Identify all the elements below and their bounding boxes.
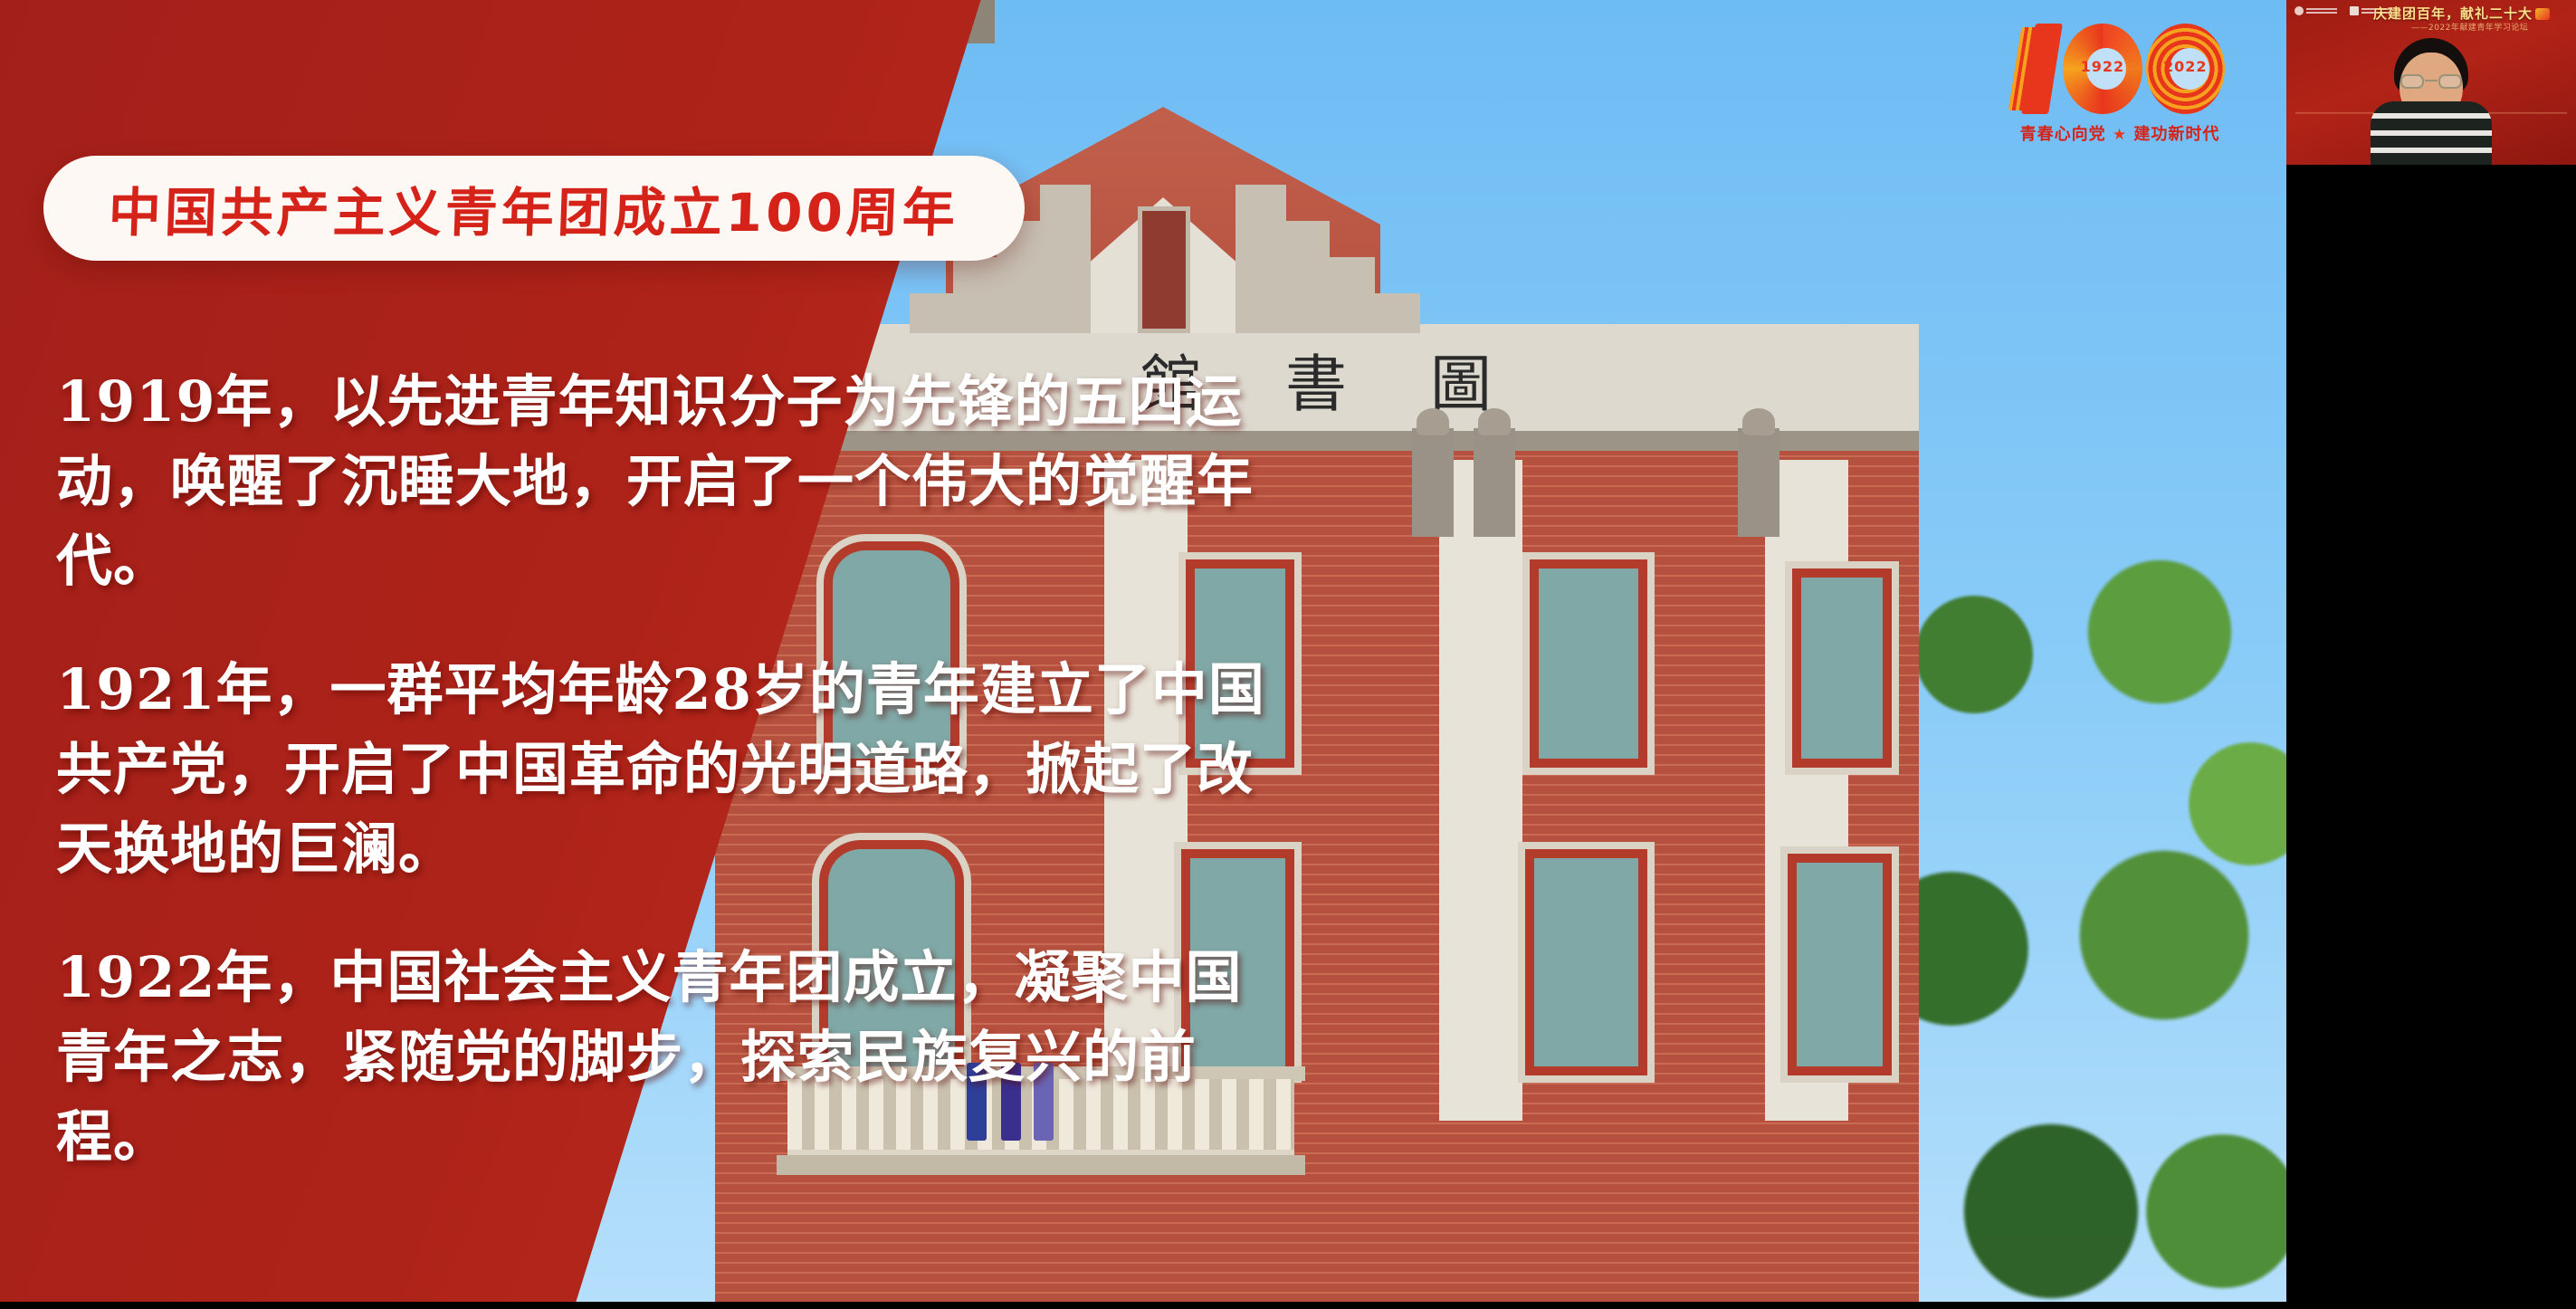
window — [1788, 854, 1892, 1075]
sign-char-2: 書 — [1285, 334, 1349, 424]
anniversary-100-logo: 1922 2022 青春心向党 ★ 建功新时代 — [2015, 20, 2225, 156]
shared-slide: 館 書 圖 — [0, 0, 2286, 1302]
window — [1525, 849, 1647, 1075]
logo-year-end: 2022 — [2146, 58, 2225, 75]
gable-window — [1138, 206, 1190, 333]
window — [1530, 559, 1647, 768]
slide-body: 1919年，以先进青年知识分子为先锋的五四运动，唤醒了沉睡大地，开启了一个伟大的… — [56, 362, 1269, 1177]
paragraph-1922: 1922年，中国社会主义青年团成立，凝聚中国青年之志，紧随党的脚步，探索民族复兴… — [56, 938, 1269, 1177]
paragraph-1919: 1919年，以先进青年知识分子为先锋的五四运动，唤醒了沉睡大地，开启了一个伟大的… — [56, 362, 1269, 601]
bottom-black-strip — [0, 1302, 2286, 1309]
striped-shirt — [2371, 101, 2492, 165]
speaker-avatar — [2363, 29, 2499, 165]
paragraph-1921: 1921年，一群平均年龄28岁的青年建立了中国共产党，开启了中国革命的光明道路，… — [56, 650, 1269, 889]
empty-video-area — [2286, 165, 2576, 1309]
glasses-icon — [2399, 74, 2463, 89]
digit-one — [2015, 24, 2059, 114]
logo-digits: 1922 2022 — [2015, 20, 2225, 118]
university-logo-icon — [2295, 5, 2337, 15]
presentation-screen: 館 書 圖 — [0, 0, 2576, 1309]
virtual-background-title: 庆建团百年，献礼二十大 — [2373, 4, 2550, 23]
pinnacle — [1474, 428, 1515, 537]
pinnacle — [1738, 428, 1779, 537]
digit-zero-first: 1922 — [2063, 24, 2142, 114]
tagline-left: 青春心向党 — [2020, 125, 2106, 144]
star-icon: ★ — [2113, 126, 2127, 144]
window — [1792, 569, 1892, 768]
page-title: 中国共产主义青年团成立100周年 — [108, 170, 960, 246]
youth-league-emblem-icon — [2535, 8, 2550, 20]
pinnacle — [1412, 428, 1454, 537]
webcam-video[interactable]: 庆建团百年，献礼二十大 ——2022年献建青年学习论坛 — [2286, 0, 2576, 165]
logo-tagline: 青春心向党 ★ 建功新时代 — [2015, 121, 2225, 145]
digit-zero-second: 2022 — [2146, 24, 2225, 114]
tagline-right: 建功新时代 — [2133, 125, 2219, 144]
webcam-panel[interactable]: 庆建团百年，献礼二十大 ——2022年献建青年学习论坛 — [2286, 0, 2576, 1309]
slide-title-pill: 中国共产主义青年团成立100周年 — [43, 156, 1025, 261]
logo-year-start: 1922 — [2063, 58, 2142, 75]
